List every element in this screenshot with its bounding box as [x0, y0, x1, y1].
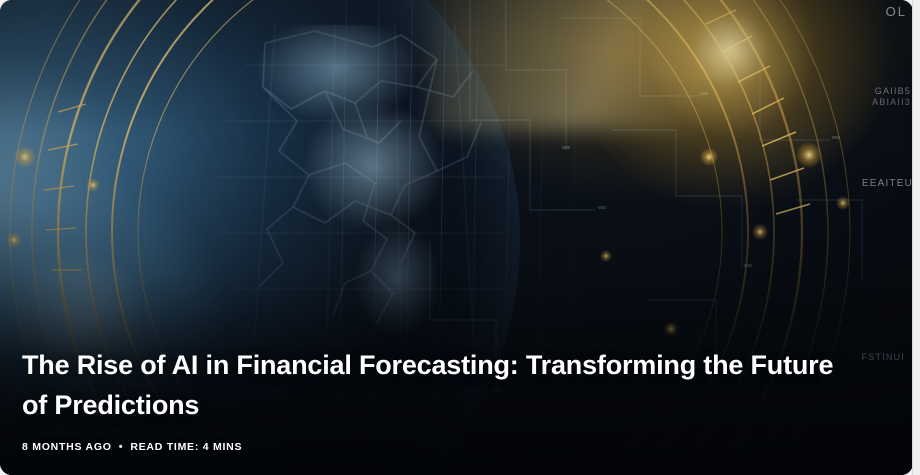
meta-separator: • — [119, 442, 124, 453]
article-hero-card[interactable]: OL GAIIB5 ABIAII3 EEAITEUI FSTINUI The R… — [0, 0, 913, 475]
artwork-text-right-upper-a: GAIIB5 — [875, 86, 911, 96]
artwork-text-right-mid: EEAITEUI — [862, 178, 913, 189]
right-edge-gutter — [912, 0, 920, 475]
published-time: 8 MONTHS AGO — [22, 441, 112, 453]
page-root: OL GAIIB5 ABIAII3 EEAITEUI FSTINUI The R… — [0, 0, 920, 475]
artwork-text-top-right: OL — [886, 4, 907, 19]
article-meta: 8 MONTHS AGO • READ TIME: 4 MINS — [22, 441, 891, 453]
read-time: READ TIME: 4 MINS — [130, 441, 242, 453]
artwork-text-right-upper-b: ABIAII3 — [872, 97, 911, 107]
article-title[interactable]: The Rise of AI in Financial Forecasting:… — [22, 345, 852, 425]
hero-content: The Rise of AI in Financial Forecasting:… — [0, 345, 913, 475]
